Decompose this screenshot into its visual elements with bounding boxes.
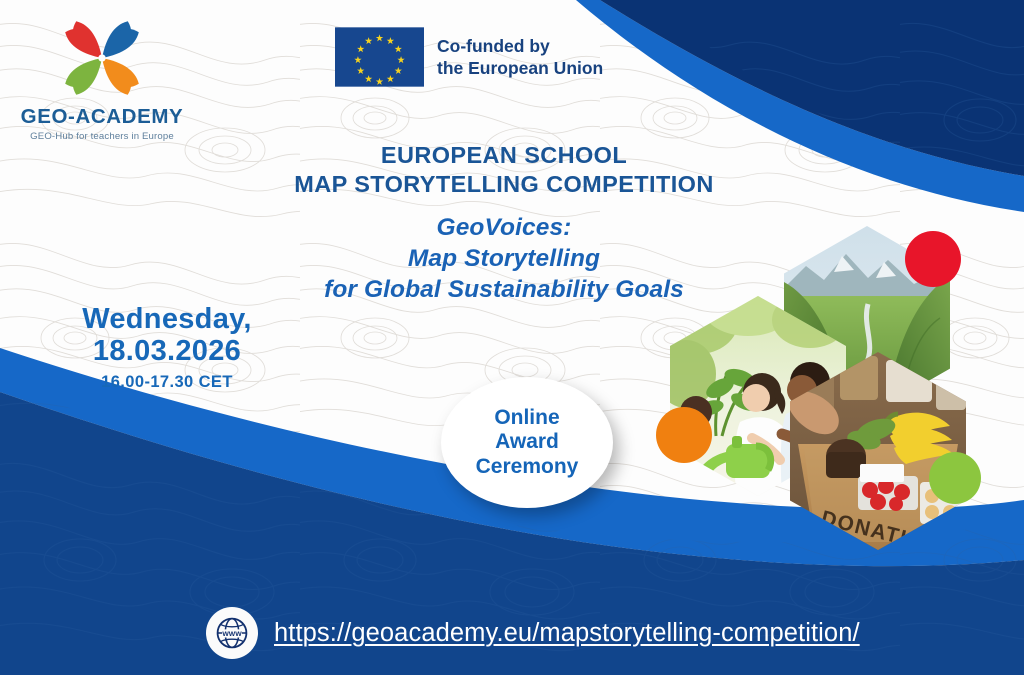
logo-wordmark: GEO-ACADEMY xyxy=(14,105,190,129)
eu-funding-badge: Co-funded by the European Union xyxy=(335,27,603,87)
page-title: EUROPEAN SCHOOL MAP STORYTELLING COMPETI… xyxy=(254,141,754,199)
globe-www-icon: WWW xyxy=(206,607,258,659)
headline-line1: EUROPEAN SCHOOL xyxy=(254,141,754,170)
accent-dot-red xyxy=(905,231,961,287)
geo-academy-logo: GEO-ACADEMY GEO-Hub for teachers in Euro… xyxy=(14,12,190,142)
subhead-line1: GeoVoices: xyxy=(254,212,754,243)
ceremony-line1: Online xyxy=(476,406,579,430)
subhead-line2: Map Storytelling xyxy=(254,243,754,274)
website-url-link[interactable]: https://geoacademy.eu/mapstorytelling-co… xyxy=(274,619,860,648)
compass-flower-logo-icon xyxy=(56,12,148,104)
eu-funding-line1: Co-funded by xyxy=(437,35,603,57)
event-date-block: Wednesday, 18.03.2026 16.00-17.30 CET xyxy=(42,303,292,392)
subhead-line3: for Global Sustainability Goals xyxy=(254,274,754,305)
online-award-ceremony-badge: Online Award Ceremony xyxy=(441,377,613,508)
event-time: 16.00-17.30 CET xyxy=(42,373,292,392)
event-date: 18.03.2026 xyxy=(42,335,292,367)
poster-canvas: GEO-ACADEMY GEO-Hub for teachers in Euro… xyxy=(0,0,1024,675)
accent-dot-green xyxy=(929,452,981,504)
ceremony-line2: Award xyxy=(476,430,579,454)
accent-dot-orange xyxy=(656,407,712,463)
event-weekday: Wednesday, xyxy=(42,303,292,335)
ceremony-badge-text: Online Award Ceremony xyxy=(476,406,579,479)
eu-funding-line2: the European Union xyxy=(437,57,603,79)
logo-tagline: GEO-Hub for teachers in Europe xyxy=(14,131,190,142)
eu-funding-text: Co-funded by the European Union xyxy=(437,35,603,80)
headline-line2: MAP STORYTELLING COMPETITION xyxy=(254,170,754,199)
website-footer[interactable]: WWW https://geoacademy.eu/mapstorytellin… xyxy=(206,607,860,659)
page-subtitle: GeoVoices: Map Storytelling for Global S… xyxy=(254,212,754,305)
eu-flag-icon xyxy=(335,27,424,87)
svg-text:WWW: WWW xyxy=(222,631,242,638)
ceremony-line3: Ceremony xyxy=(476,455,579,479)
